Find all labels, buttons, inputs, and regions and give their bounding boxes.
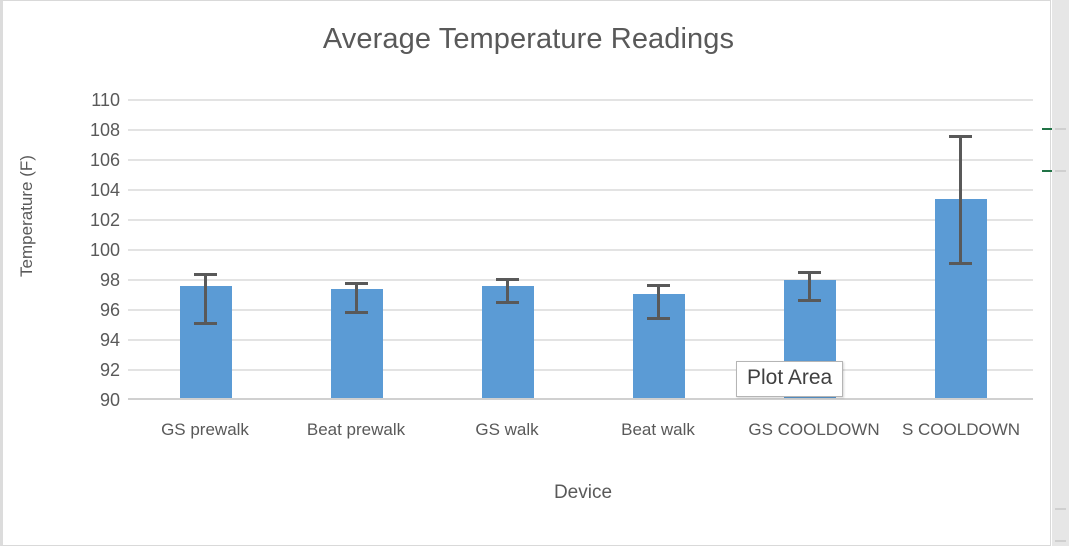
errorbar-cap-upper-gs-walk xyxy=(496,278,519,281)
x-tick-beat-prewalk: Beat prewalk xyxy=(281,419,431,441)
x-tick-gs-prewalk: GS prewalk xyxy=(130,419,280,441)
y-axis-tick-labels: 110 108 106 104 102 100 98 96 94 92 90 xyxy=(58,99,120,399)
y-tick-104: 104 xyxy=(60,181,120,199)
y-tick-90: 90 xyxy=(60,391,120,409)
errorbar-cap-lower-gs-prewalk xyxy=(194,322,217,325)
gridline-100 xyxy=(128,249,1033,251)
errorbar-line-gs-cooldown xyxy=(808,271,811,302)
x-tick-beat-walk: Beat walk xyxy=(583,419,733,441)
chart-frame[interactable]: Average Temperature Readings Temperature… xyxy=(0,0,1051,546)
x-axis-line xyxy=(128,398,1033,400)
gridline-106 xyxy=(128,159,1033,161)
errorbar-cap-lower-gs-cooldown xyxy=(798,299,821,302)
errorbar-line-gs-prewalk xyxy=(204,273,207,325)
x-tick-gs-walk: GS walk xyxy=(432,419,582,441)
y-tick-94: 94 xyxy=(60,331,120,349)
spreadsheet-gutter[interactable] xyxy=(1052,0,1069,546)
x-tick-gs-cooldown: GS COOLDOWN xyxy=(739,419,889,441)
y-tick-98: 98 xyxy=(60,271,120,289)
chart-title[interactable]: Average Temperature Readings xyxy=(3,23,1054,56)
plot-area[interactable] xyxy=(128,99,1033,399)
errorbar-cap-upper-beat-walk xyxy=(647,284,670,287)
gutter-tick xyxy=(1055,508,1066,510)
y-tick-108: 108 xyxy=(60,121,120,139)
y-tick-106: 106 xyxy=(60,151,120,169)
x-axis-title[interactable]: Device xyxy=(113,482,1053,504)
errorbar-line-beat-walk xyxy=(657,284,660,320)
gridline-104 xyxy=(128,189,1033,191)
y-tick-102: 102 xyxy=(60,211,120,229)
y-tick-110: 110 xyxy=(60,91,120,109)
gridline-92 xyxy=(128,369,1033,371)
x-tick-s-cooldown: S COOLDOWN xyxy=(886,419,1036,441)
gridline-108 xyxy=(128,129,1033,131)
errorbar-cap-lower-s-cooldown xyxy=(949,262,972,265)
chart-screenshot: Average Temperature Readings Temperature… xyxy=(0,0,1069,546)
gutter-tick xyxy=(1055,540,1066,542)
errorbar-line-beat-prewalk xyxy=(355,282,358,314)
gridline-94 xyxy=(128,339,1033,341)
y-tick-96: 96 xyxy=(60,301,120,319)
errorbar-cap-lower-beat-walk xyxy=(647,317,670,320)
errorbar-cap-upper-s-cooldown xyxy=(949,135,972,138)
errorbar-cap-upper-beat-prewalk xyxy=(345,282,368,285)
errorbar-cap-lower-beat-prewalk xyxy=(345,311,368,314)
gridline-110 xyxy=(128,99,1033,101)
errorbar-cap-upper-gs-prewalk xyxy=(194,273,217,276)
gridline-96 xyxy=(128,309,1033,311)
errorbar-cap-upper-gs-cooldown xyxy=(798,271,821,274)
gutter-tick xyxy=(1055,128,1066,130)
y-axis-title[interactable]: Temperature (F) xyxy=(17,126,37,306)
gridline-102 xyxy=(128,219,1033,221)
gridline-98 xyxy=(128,279,1033,281)
y-tick-92: 92 xyxy=(60,361,120,379)
errorbar-cap-lower-gs-walk xyxy=(496,301,519,304)
errorbar-line-s-cooldown xyxy=(959,135,962,265)
plot-area-tooltip: Plot Area xyxy=(736,361,843,397)
y-tick-100: 100 xyxy=(60,241,120,259)
gutter-tick xyxy=(1055,170,1066,172)
